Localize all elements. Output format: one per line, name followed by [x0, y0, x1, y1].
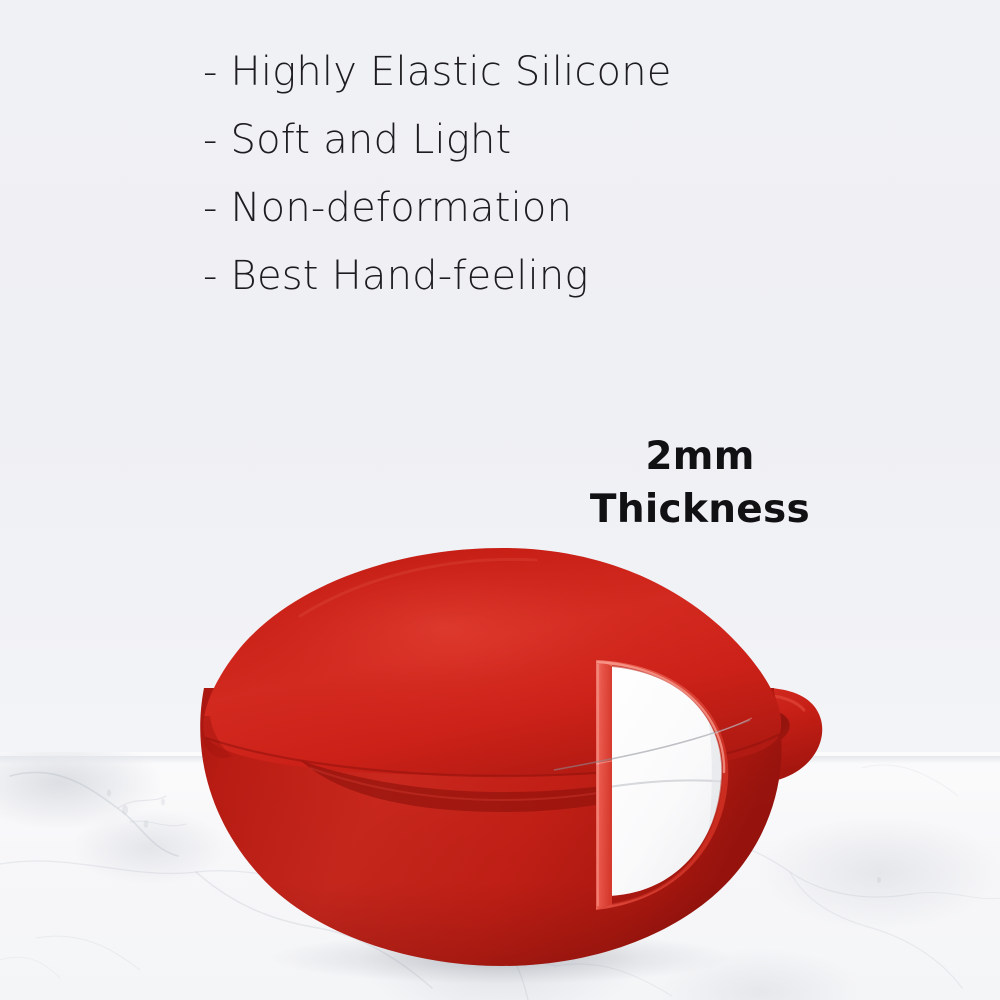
product-illustration	[150, 520, 890, 990]
feature-item-3: - Non-deformation	[203, 174, 823, 242]
feature-item-2: - Soft and Light	[203, 106, 823, 174]
red-silicone-case-graphic	[150, 520, 890, 990]
thickness-value: 2mm	[520, 432, 880, 482]
product-feature-image: - Highly Elastic Silicone - Soft and Lig…	[0, 0, 1000, 1000]
feature-bullet-list: - Highly Elastic Silicone - Soft and Lig…	[203, 38, 823, 310]
feature-item-4: - Best Hand-feeling	[203, 242, 823, 310]
feature-item-1: - Highly Elastic Silicone	[203, 38, 823, 106]
